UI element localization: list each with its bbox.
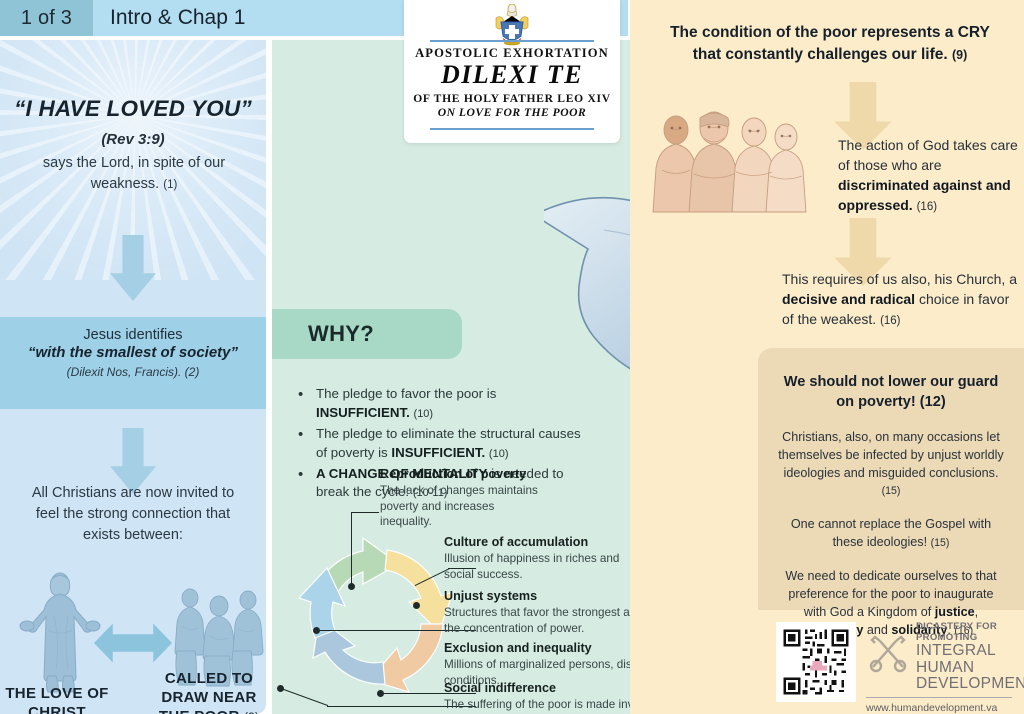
scripture-reference: (Rev 3:9) [0, 131, 266, 148]
guard-on-poverty-panel: We should not lower our guard on poverty… [758, 348, 1024, 610]
right-column: The condition of the poor represents a C… [630, 0, 1024, 714]
double-headed-arrow-icon [94, 620, 172, 666]
caption-draw-near-text: CALLED TO DRAW NEAR THE POOR [159, 670, 257, 714]
decisive-choice-cite: (16) [880, 315, 900, 327]
jesus-identifies-cite: (Dilexit Nos, Francis). (2) [0, 365, 266, 379]
jesus-identifies-band: Jesus identifies “with the smallest of s… [0, 317, 266, 409]
title-line-2: DILEXI TE [404, 60, 620, 90]
document-title-card: APOSTOLIC EXHORTATION DILEXI TE OF THE H… [404, 0, 620, 143]
logo-divider [866, 697, 1012, 698]
cry-headline: The condition of the poor represents a C… [648, 22, 1012, 66]
cycle-label-accumulation: Culture of accumulation Illusion of happ… [444, 535, 624, 582]
org-line-1: DICASTERY FOR PROMOTING [916, 621, 1018, 643]
qr-code-icon[interactable] [776, 622, 856, 702]
four-poor-people-illustration [652, 104, 807, 214]
bullet-cite: (10) [414, 408, 434, 420]
jesus-identifies-line2: “with the smallest of society” [0, 343, 266, 363]
panel-heading-text: We should not lower our guard on poverty… [784, 374, 999, 410]
website-url[interactable]: www.humandevelopment.va [866, 702, 1018, 714]
cycle-dot-reproduction [348, 583, 355, 590]
cycle-desc: The lack of changes maintains poverty an… [380, 483, 540, 529]
cycle-desc: Structures that favor the strongest and … [444, 605, 654, 635]
caption-draw-near-poor: CALLED TO DRAW NEAR THE POOR (3) [152, 670, 266, 714]
page-indicator: 1 of 3 [0, 0, 93, 36]
cycle-dot-accumulation [413, 602, 420, 609]
says-the-lord-text: says the Lord, in spite of our weakness.… [28, 153, 240, 194]
panel-p1-text: Christians, also, on many occasions let … [778, 430, 1003, 480]
panel-p2-text: One cannot replace the Gospel with these… [791, 517, 991, 549]
cycle-label-unjust: Unjust systems Structures that favor the… [444, 589, 654, 636]
all-christians-invited-text: All Christians are now invited to feel t… [22, 483, 244, 546]
bullet-pre: The pledge to favor the poor is [316, 386, 496, 401]
cycle-leader-reproduction [351, 512, 352, 584]
list-item: The pledge to eliminate the structural c… [294, 425, 584, 463]
christ-figure-illustration [18, 568, 102, 700]
left-column: “I HAVE LOVED YOU” (Rev 3:9) says the Lo… [0, 40, 266, 714]
cry-headline-line2: that constantly challenges our life. [693, 46, 948, 63]
cry-headline-line1: The condition of the poor represents a C… [670, 24, 990, 41]
bullet-bold: INSUFFICIENT. [316, 405, 410, 420]
org-line-2: INTEGRAL [916, 643, 1018, 660]
action-of-god-cite: (16) [917, 201, 937, 213]
title-rule-bottom [430, 128, 594, 130]
caption-love-of-christ: THE LOVE OF CHRIST [2, 685, 112, 714]
cycle-label-reproduction: Reproduction of poverty The lack of chan… [380, 467, 540, 529]
panel-heading: We should not lower our guard on poverty… [780, 372, 1002, 413]
bullet-bold: INSUFFICIENT. [391, 445, 485, 460]
jesus-identifies-line1: Jesus identifies [0, 327, 266, 343]
cycle-leader-reproduction-h [351, 512, 379, 513]
says-the-lord-body: says the Lord, in spite of our weakness. [43, 155, 225, 192]
title-line-4: ON LOVE FOR THE POOR [404, 106, 620, 119]
panel-p3-justice: justice [935, 605, 975, 619]
bullet-cite: (10) [489, 448, 509, 460]
org-line-4: DEVELOPMENT [916, 676, 1018, 693]
cycle-segment-accumulation [385, 550, 453, 632]
cry-headline-cite: (9) [952, 48, 967, 62]
action-of-god-pre: The action of God takes care of those wh… [838, 137, 1018, 173]
says-the-lord-cite: (1) [163, 179, 177, 191]
circular-cycle-arrows-icon [287, 525, 467, 707]
decisive-choice-text: This requires of us also, his Church, a … [782, 270, 1022, 330]
decisive-choice-pre: This requires of us also, his Church, a [782, 271, 1017, 287]
cycle-desc: Illusion of happiness in riches and soci… [444, 551, 624, 581]
panel-paragraph-2: One cannot replace the Gospel with these… [776, 516, 1006, 552]
decisive-choice-bold: decisive and radical [782, 291, 915, 307]
cycle-title: Reproduction of poverty [380, 467, 540, 482]
panel-p1-cite: (15) [882, 485, 901, 497]
loved-you-quote: “I HAVE LOVED YOU” [0, 96, 266, 122]
dicastery-logo-text: DICASTERY FOR PROMOTING INTEGRAL HUMAN D… [866, 621, 1018, 714]
list-item: The pledge to favor the poor is INSUFFIC… [294, 385, 584, 423]
infographic-page: 1 of 3 Intro & Chap 1 “I HAVE LOVED YOU”… [0, 0, 1024, 714]
org-line-3: HUMAN [916, 660, 1018, 677]
page-title: Intro & Chap 1 [110, 0, 245, 36]
title-line-3: OF THE HOLY FATHER LEO XIV [404, 92, 620, 105]
panel-heading-cite: (12) [920, 394, 946, 410]
cycle-title: Culture of accumulation [444, 535, 624, 550]
panel-paragraph-1: Christians, also, on many occasions let … [776, 429, 1006, 501]
title-line-1: APOSTOLIC EXHORTATION [404, 46, 620, 61]
why-label: WHY? [272, 309, 462, 359]
action-of-god-text: The action of God takes care of those wh… [838, 136, 1022, 216]
cycle-title: Unjust systems [444, 589, 654, 604]
title-rule-top [430, 40, 594, 42]
panel-p2-cite: (15) [931, 537, 950, 549]
panel-p3-mid1: , [975, 605, 979, 619]
